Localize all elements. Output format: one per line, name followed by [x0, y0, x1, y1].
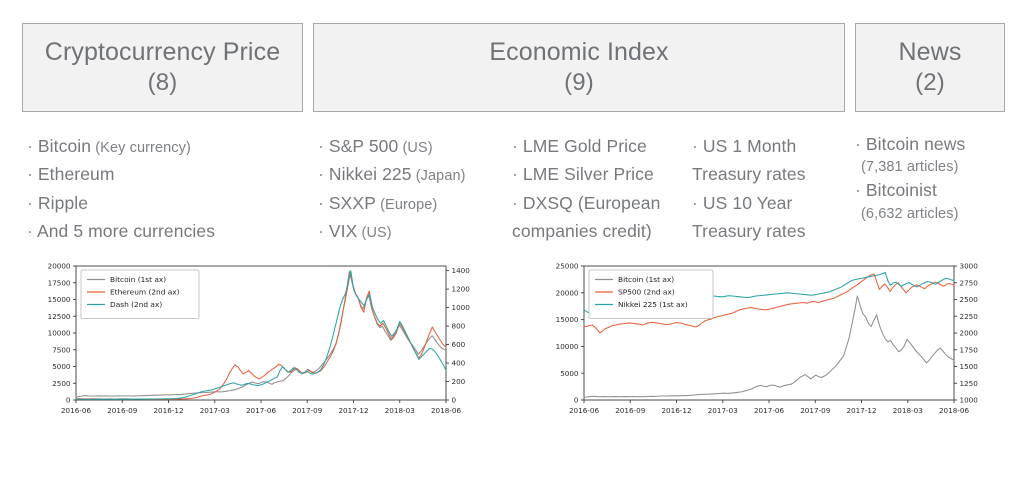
- list-item-label: Bitcoin: [38, 136, 91, 156]
- y-left-tick-label: 5000: [560, 369, 579, 378]
- chart-canvas: 0500010000150002000025000100012501500175…: [530, 258, 1002, 438]
- y-left-tick-label: 20000: [556, 288, 579, 297]
- y-right-tick-label: 1000: [960, 396, 979, 405]
- list-item-sublabel: (US): [357, 225, 391, 241]
- y-left-tick-label: 10000: [48, 329, 71, 338]
- list-item-label: US 1 Month: [703, 136, 796, 156]
- x-tick-label: 2017-09: [800, 406, 830, 415]
- legend-label: SP500 (2nd ax): [618, 288, 675, 297]
- y-left-tick-label: 20000: [48, 262, 71, 271]
- x-tick-label: 2016-09: [107, 406, 137, 415]
- list-item-sublabel: (Japan): [412, 168, 466, 184]
- slide-root: Cryptocurrency Price (8) Economic Index …: [0, 0, 1024, 477]
- legend-label: Bitcoin (1st ax): [618, 275, 674, 284]
- bullet-icon: ·: [512, 136, 523, 156]
- y-right-tick-label: 2250: [960, 312, 979, 321]
- x-tick-label: 2017-12: [338, 406, 368, 415]
- list-item: · Ethereum: [27, 160, 302, 188]
- y-left-tick-label: 17500: [48, 278, 71, 287]
- y-right-tick-label: 800: [452, 322, 466, 331]
- x-tick-label: 2018-03: [893, 406, 923, 415]
- list-item-sublabel: (7,381 articles): [855, 157, 1020, 178]
- list-item: · Bitcoin news(7,381 articles): [855, 132, 1020, 178]
- category-count: (2): [915, 68, 945, 99]
- list-item-label: Ripple: [38, 193, 88, 213]
- list-item: · US 10 YearTreasury rates: [692, 189, 852, 246]
- list-item: · Bitcoin (Key currency): [27, 132, 302, 160]
- list-item: · SXXP (Europe): [318, 189, 508, 217]
- list-item: · Nikkei 225 (Japan): [318, 160, 508, 188]
- y-left-tick-label: 0: [66, 396, 71, 405]
- category-box-news[interactable]: News (2): [855, 23, 1005, 112]
- x-tick-label: 2018-03: [385, 406, 415, 415]
- y-right-tick-label: 1200: [452, 285, 471, 294]
- y-left-tick-label: 5000: [52, 362, 71, 371]
- bullet-icon: ·: [692, 193, 703, 213]
- list-item: · US 1 MonthTreasury rates: [692, 132, 852, 189]
- list-item-label: And 5 more currencies: [37, 221, 215, 241]
- category-count: (8): [148, 68, 178, 99]
- y-right-tick-label: 3000: [960, 262, 979, 271]
- y-right-tick-label: 200: [452, 377, 466, 386]
- y-left-tick-label: 15000: [48, 295, 71, 304]
- y-left-tick-label: 25000: [556, 262, 579, 271]
- y-right-tick-label: 1250: [960, 379, 979, 388]
- list-column-cryptocurrency: · Bitcoin (Key currency)· Ethereum· Ripp…: [27, 132, 302, 246]
- list-item: · S&P 500 (US): [318, 132, 508, 160]
- y-right-tick-label: 1000: [452, 303, 471, 312]
- list-item: · LME Gold Price: [512, 132, 692, 160]
- bullet-icon: ·: [692, 136, 703, 156]
- list-item-sublabel: (Europe): [376, 197, 437, 213]
- list-item-sublabel: (US): [398, 140, 432, 156]
- list-column-news: · Bitcoin news(7,381 articles)· Bitcoini…: [855, 132, 1020, 225]
- list-column-economic-2: · LME Gold Price· LME Silver Price· DXSQ…: [512, 132, 692, 245]
- category-title: Economic Index: [489, 36, 668, 68]
- bullet-icon: ·: [27, 221, 37, 241]
- bullet-icon: ·: [318, 164, 329, 184]
- list-item-label: VIX: [329, 221, 358, 241]
- legend-label: Nikkei 225 (1st ax): [618, 300, 688, 309]
- y-right-tick-label: 600: [452, 340, 466, 349]
- x-tick-label: 2016-06: [569, 406, 599, 415]
- category-box-economic-index[interactable]: Economic Index (9): [313, 23, 845, 112]
- x-tick-label: 2017-09: [292, 406, 322, 415]
- y-right-tick-label: 2750: [960, 278, 979, 287]
- bullet-icon: ·: [855, 180, 866, 200]
- x-tick-label: 2016-09: [615, 406, 645, 415]
- bullet-icon: ·: [27, 136, 38, 156]
- bullet-icon: ·: [27, 164, 38, 184]
- list-item-continuation: Treasury rates: [692, 217, 852, 245]
- y-right-tick-label: 0: [452, 396, 457, 405]
- legend-label: Dash (2nd ax): [110, 300, 162, 309]
- list-item-continuation: companies credit): [512, 217, 692, 245]
- category-box-cryptocurrency-price[interactable]: Cryptocurrency Price (8): [22, 23, 303, 112]
- list-item-label: LME Gold Price: [523, 136, 647, 156]
- y-left-tick-label: 0: [574, 396, 579, 405]
- list-item: · LME Silver Price: [512, 160, 692, 188]
- list-item: · And 5 more currencies: [27, 217, 302, 245]
- bullet-icon: ·: [855, 134, 866, 154]
- list-item-label: Bitcoinist: [866, 180, 937, 200]
- list-item-continuation: Treasury rates: [692, 160, 852, 188]
- y-left-tick-label: 7500: [52, 345, 71, 354]
- legend-label: Bitcoin (1st ax): [110, 275, 166, 284]
- list-item-sublabel: (Key currency): [91, 140, 191, 156]
- y-left-tick-label: 15000: [556, 315, 579, 324]
- y-right-tick-label: 1500: [960, 362, 979, 371]
- legend-label: Ethereum (2nd ax): [110, 288, 180, 297]
- y-right-tick-label: 400: [452, 359, 466, 368]
- crypto-price-chart: 0250050007500100001250015000175002000002…: [22, 258, 494, 438]
- x-tick-label: 2017-03: [708, 406, 738, 415]
- x-tick-label: 2016-12: [661, 406, 691, 415]
- list-column-economic-1: · S&P 500 (US)· Nikkei 225 (Japan)· SXXP…: [318, 132, 508, 246]
- y-right-tick-label: 1750: [960, 345, 979, 354]
- x-tick-label: 2017-03: [200, 406, 230, 415]
- y-left-tick-label: 10000: [556, 342, 579, 351]
- list-item-label: Bitcoin news: [866, 134, 965, 154]
- economic-index-chart: 0500010000150002000025000100012501500175…: [530, 258, 1002, 438]
- y-right-tick-label: 2000: [960, 329, 979, 338]
- category-title: Cryptocurrency Price: [45, 36, 280, 68]
- list-item-label: LME Silver Price: [523, 164, 654, 184]
- bullet-icon: ·: [318, 193, 329, 213]
- list-item-label: S&P 500: [329, 136, 398, 156]
- bullet-icon: ·: [512, 193, 523, 213]
- x-tick-label: 2017-06: [246, 406, 276, 415]
- x-tick-label: 2018-06: [939, 406, 969, 415]
- bullet-icon: ·: [27, 193, 38, 213]
- chart-canvas: 0250050007500100001250015000175002000002…: [22, 258, 494, 438]
- bullet-icon: ·: [318, 136, 329, 156]
- x-tick-label: 2016-06: [61, 406, 91, 415]
- list-item: · VIX (US): [318, 217, 508, 245]
- list-item-label: US 10 Year: [703, 193, 793, 213]
- list-item-label: Nikkei 225: [329, 164, 412, 184]
- category-title: News: [899, 36, 962, 68]
- x-tick-label: 2017-06: [754, 406, 784, 415]
- bullet-icon: ·: [512, 164, 523, 184]
- bullet-icon: ·: [318, 221, 329, 241]
- list-item-sublabel: (6,632 articles): [855, 204, 1020, 225]
- list-item-label: DXSQ (European: [523, 193, 661, 213]
- y-right-tick-label: 1400: [452, 266, 471, 275]
- list-column-economic-3: · US 1 MonthTreasury rates· US 10 YearTr…: [692, 132, 852, 245]
- x-tick-label: 2018-06: [431, 406, 461, 415]
- x-tick-label: 2016-12: [153, 406, 183, 415]
- list-item-label: Ethereum: [38, 164, 115, 184]
- y-left-tick-label: 2500: [52, 379, 71, 388]
- list-item: · Ripple: [27, 189, 302, 217]
- list-item: · Bitcoinist(6,632 articles): [855, 178, 1020, 224]
- y-right-tick-label: 2500: [960, 295, 979, 304]
- x-tick-label: 2017-12: [846, 406, 876, 415]
- list-item: · DXSQ (Europeancompanies credit): [512, 189, 692, 246]
- y-left-tick-label: 12500: [48, 312, 71, 321]
- category-count: (9): [564, 68, 594, 99]
- list-item-label: SXXP: [329, 193, 376, 213]
